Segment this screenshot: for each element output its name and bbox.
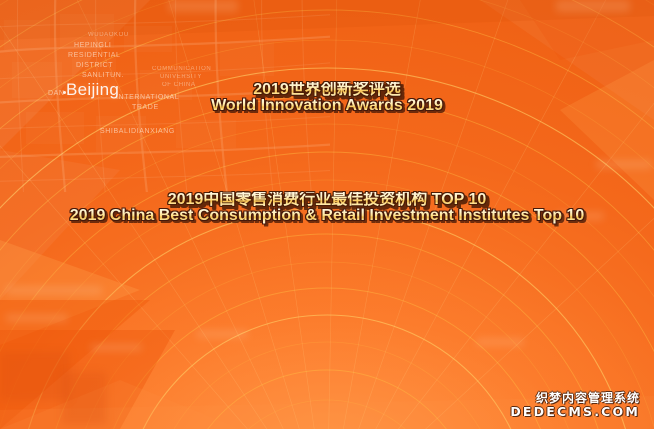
award-title-en: World Innovation Awards 2019 [0,98,654,114]
dark-streak [62,372,106,424]
watermark: 织梦内容管理系统 DEDECMS.COM [510,392,640,419]
award-title-cn: 2019世界创新奖评选 [0,82,654,98]
award-title-group: 2019世界创新奖评选 World Innovation Awards 2019 [0,82,654,114]
map-label-wudaokou: WUDAOKOU [88,32,129,38]
map-label-hepingli: HEPINGLI [74,42,111,49]
map-label-residential: RESIDENTIAL [68,52,121,59]
light-streak [476,338,524,346]
light-streak [6,286,102,295]
light-streak [90,344,142,351]
headline-title-cn: 2019中国零售消费行业最佳投资机构 TOP 10 [0,192,654,208]
promo-banner: WUDAOKOU HEPINGLI RESIDENTIAL DISTRICT S… [0,0,654,429]
headline-group: 2019中国零售消费行业最佳投资机构 TOP 10 2019 China Bes… [0,192,654,224]
dark-streak [0,352,70,400]
map-label-shibalidianxiang: SHIBALIDIANXIANG [100,128,175,135]
watermark-text-en: DEDECMS.COM [510,405,640,419]
map-label-university: UNIVERSITY [160,74,202,80]
map-label-district: DISTRICT [76,62,113,69]
watermark-text-cn: 织梦内容管理系统 [510,392,640,405]
headline-title-en: 2019 China Best Consumption & Retail Inv… [0,208,654,224]
light-streak [596,160,652,169]
light-streak [6,314,68,322]
light-streak [196,330,248,338]
map-label-sanlitun: SANLITUN. [82,72,124,79]
light-streak [556,0,630,12]
map-label-communication: COMMUNICATION [152,66,211,72]
